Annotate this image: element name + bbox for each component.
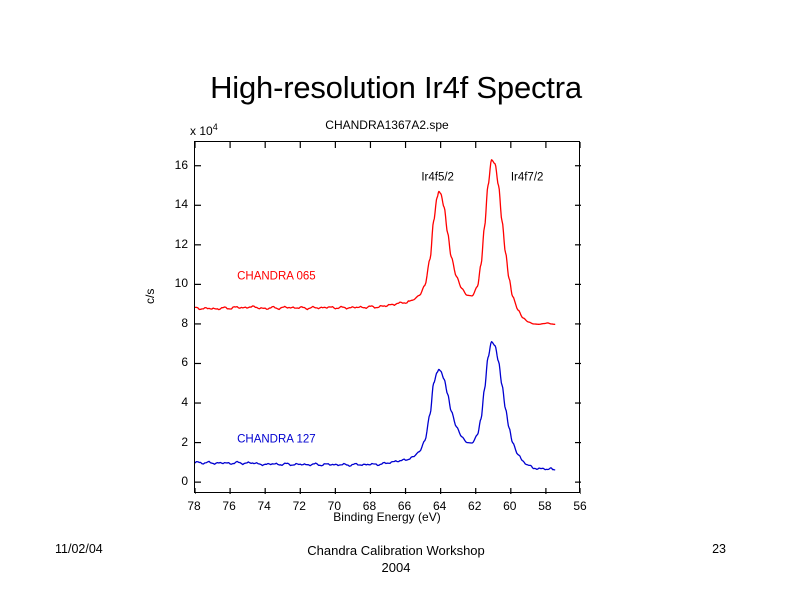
y-tick-label: 14 [154,198,188,210]
y-axis-multiplier-base: x 10 [190,124,213,138]
y-tick-label: 6 [154,356,188,368]
plot-svg: Ir4f5/2Ir4f7/2CHANDRA 065CHANDRA 127 [195,142,581,494]
series-line [195,160,555,325]
chart-annotation: Ir4f5/2 [421,172,454,184]
footer-center-line1: Chandra Calibration Workshop [196,542,596,559]
y-axis-multiplier: x 104 [190,122,218,138]
y-tick-label: 8 [154,317,188,329]
y-axis-multiplier-exponent: 4 [213,122,218,132]
y-tick-label: 12 [154,238,188,250]
chart-figure: CHANDRA1367A2.spe x 104 c/s Ir4f5/2Ir4f7… [0,112,792,532]
y-tick-label: 16 [154,159,188,171]
y-axis-label: c/s [143,289,157,304]
slide-footer: 11/02/04 Chandra Calibration Workshop 20… [0,536,792,596]
y-tick-label: 4 [154,396,188,408]
chart-annotations: Ir4f5/2Ir4f7/2CHANDRA 065CHANDRA 127 [237,172,543,446]
chart-annotation: CHANDRA 127 [237,434,316,446]
y-tick-label: 10 [154,277,188,289]
footer-page-number: 23 [712,542,726,556]
chart-title: CHANDRA1367A2.spe [194,118,580,132]
plot-area: Ir4f5/2Ir4f7/2CHANDRA 065CHANDRA 127 [194,141,580,493]
footer-center: Chandra Calibration Workshop 2004 [196,542,596,576]
footer-date: 11/02/04 [55,542,103,556]
y-tick-label: 0 [154,475,188,487]
chart-annotation: Ir4f7/2 [511,172,544,184]
y-tick-label: 2 [154,436,188,448]
data-series-layer [195,160,555,470]
page-title: High-resolution Ir4f Spectra [0,70,792,106]
x-axis-label: Binding Energy (eV) [194,510,580,524]
footer-center-line2: 2004 [196,559,596,576]
series-line [195,342,555,470]
chart-annotation: CHANDRA 065 [237,270,316,282]
